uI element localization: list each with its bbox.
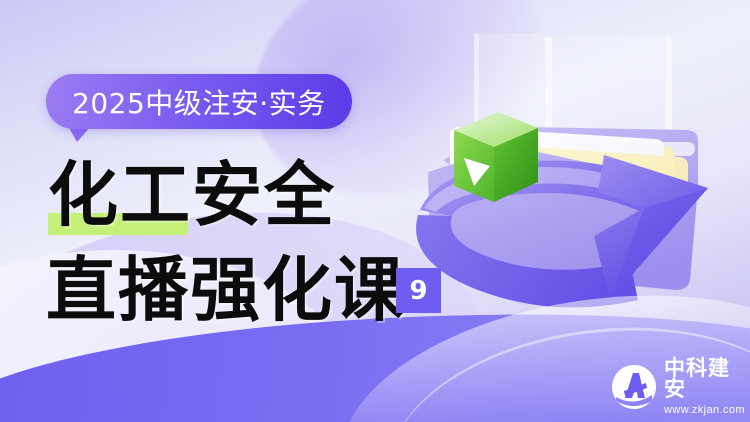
- page-title-line-1: 化工安全: [48, 155, 336, 235]
- page-title-line-2: 直播强化课: [46, 250, 406, 330]
- brand-website-label: www.zkjan.com: [664, 405, 750, 416]
- category-badge-label: 2025中级注安·实务: [72, 82, 326, 122]
- zhongke-arrow-mark-icon: [612, 365, 656, 409]
- episode-number-badge: 9: [396, 268, 441, 313]
- course-promo-banner: 2025中级注安·实务 化工安全 直播强化课 9 中科建安 www.zkjan.…: [0, 0, 750, 422]
- episode-number-label: 9: [409, 276, 427, 306]
- brand-logo-text: 中科建安 www.zkjan.com: [664, 358, 750, 416]
- category-badge-pill: 2025中级注安·实务: [46, 74, 352, 129]
- brand-name-label: 中科建安: [664, 358, 750, 400]
- brand-logo: 中科建安 www.zkjan.com: [612, 358, 750, 416]
